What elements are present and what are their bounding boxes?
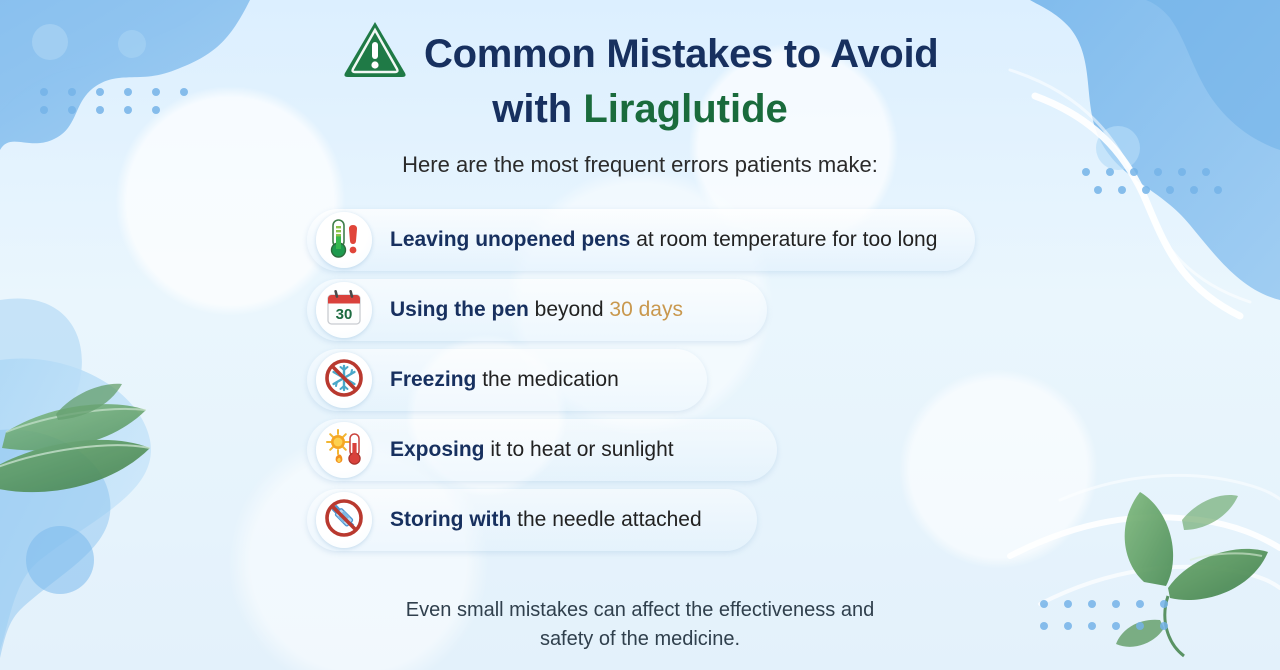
icon-badge — [316, 212, 372, 268]
infographic-content: Common Mistakes to Avoid with Liraglutid… — [0, 0, 1280, 670]
header: Common Mistakes to Avoid with Liraglutid… — [0, 24, 1280, 132]
footer-line-2: safety of the medicine. — [0, 625, 1280, 654]
list-item: Storing with the needle attached — [307, 485, 987, 555]
page-title-line2: with Liraglutide — [0, 87, 1280, 132]
icon-badge — [316, 492, 372, 548]
footer-line-1: Even small mistakes can affect the effec… — [0, 596, 1280, 625]
list-item-bold: Exposing — [390, 438, 485, 461]
list-item-bold: Freezing — [390, 368, 476, 391]
icon-badge — [316, 422, 372, 478]
calendar-day-number: 30 — [336, 306, 353, 323]
list-item: Leaving unopened pens at room temperatur… — [307, 205, 987, 275]
page-title-line1: Common Mistakes to Avoid — [424, 32, 938, 77]
warning-triangle-icon — [342, 18, 408, 85]
list-item-text: Using the pen beyond 30 days — [390, 298, 683, 322]
icon-badge: 30 — [316, 282, 372, 338]
list-item-text: Leaving unopened pens at room temperatur… — [390, 228, 937, 252]
icon-badge — [316, 352, 372, 408]
list-item-rest: the medication — [476, 368, 618, 391]
list-item-bold: Leaving unopened pens — [390, 228, 630, 251]
list-item: Freezing the medication — [307, 345, 987, 415]
list-item-text: Storing with the needle attached — [390, 508, 702, 532]
list-item-bold: Using the pen — [390, 298, 529, 321]
list-item-highlight: 30 days — [609, 298, 683, 321]
calendar-30-icon: 30 — [324, 288, 364, 333]
list-item-rest: beyond — [529, 298, 610, 321]
list-item-rest: it to heat or sunlight — [485, 438, 674, 461]
list-item-text: Freezing the medication — [390, 368, 619, 392]
list-item-rest: the needle attached — [511, 508, 701, 531]
no-needle-syringe-icon — [323, 497, 365, 544]
no-freeze-snowflake-icon — [323, 357, 365, 404]
footer-note: Even small mistakes can affect the effec… — [0, 596, 1280, 654]
thermometer-warning-icon — [324, 217, 364, 264]
sun-heat-thermometer-icon — [323, 427, 365, 474]
list-item-bold: Storing with — [390, 508, 511, 531]
list-item: 30 Using the pen beyond 30 days — [307, 275, 987, 345]
title-prefix: with — [492, 87, 583, 131]
list-item: Exposing it to heat or sunlight — [307, 415, 987, 485]
brand-name: Liraglutide — [583, 87, 787, 131]
mistakes-list: Leaving unopened pens at room temperatur… — [307, 205, 987, 555]
subtitle: Here are the most frequent errors patien… — [0, 152, 1280, 178]
title-line-1-row: Common Mistakes to Avoid — [0, 24, 1280, 85]
list-item-text: Exposing it to heat or sunlight — [390, 438, 674, 462]
list-item-rest: at room temperature for too long — [630, 228, 937, 251]
